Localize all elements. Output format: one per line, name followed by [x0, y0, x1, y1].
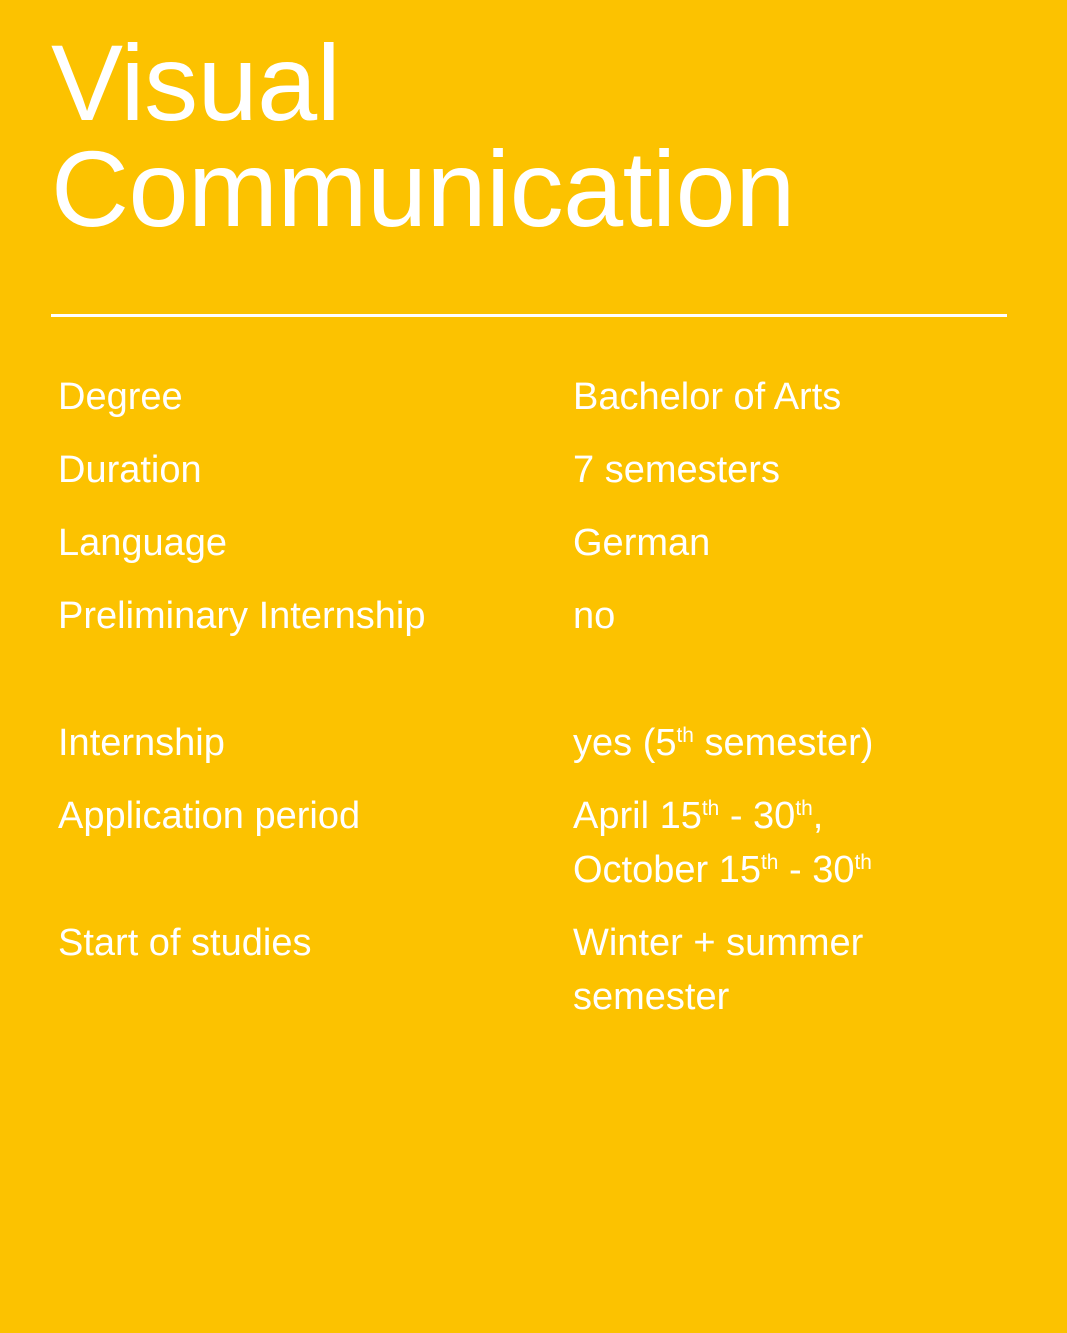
page-title: Visual Communication — [51, 30, 1011, 242]
fact-row-application-period: Application period April 15th - 30th,Oct… — [0, 789, 1067, 916]
fact-value-start-of-studies: Winter + summersemester — [573, 916, 1033, 1024]
fact-label-duration: Duration — [58, 443, 558, 497]
fact-row-start-of-studies: Start of studies Winter + summersemester — [0, 916, 1067, 1026]
page-title-line-2: Communication — [51, 136, 1011, 242]
fact-value-degree: Bachelor of Arts — [573, 370, 1033, 424]
fact-value-internship: yes (5th semester) — [573, 716, 1033, 770]
fact-value-preliminary-internship: no — [573, 589, 1033, 643]
fact-row-internship: Internship yes (5th semester) — [0, 716, 1067, 789]
fact-row-degree: Degree Bachelor of Arts — [0, 370, 1067, 443]
title-divider-rule — [51, 314, 1007, 317]
fact-row-preliminary-internship: Preliminary Internship no — [0, 589, 1067, 716]
fact-value-language: German — [573, 516, 1033, 570]
fact-row-language: Language German — [0, 516, 1067, 589]
fact-label-start-of-studies: Start of studies — [58, 916, 558, 970]
fact-label-application-period: Application period — [58, 789, 558, 843]
fact-label-language: Language — [58, 516, 558, 570]
fact-label-preliminary-internship: Preliminary Internship — [58, 589, 558, 643]
fact-row-duration: Duration 7 semesters — [0, 443, 1067, 516]
fact-value-duration: 7 semesters — [573, 443, 1033, 497]
programme-facts-list: Degree Bachelor of Arts Duration 7 semes… — [0, 370, 1067, 1026]
poster-canvas: Visual Communication Degree Bachelor of … — [0, 0, 1067, 1333]
fact-value-application-period: April 15th - 30th,October 15th - 30th — [573, 789, 1033, 897]
page-title-line-1: Visual — [51, 30, 1011, 136]
fact-label-internship: Internship — [58, 716, 558, 770]
fact-label-degree: Degree — [58, 370, 558, 424]
